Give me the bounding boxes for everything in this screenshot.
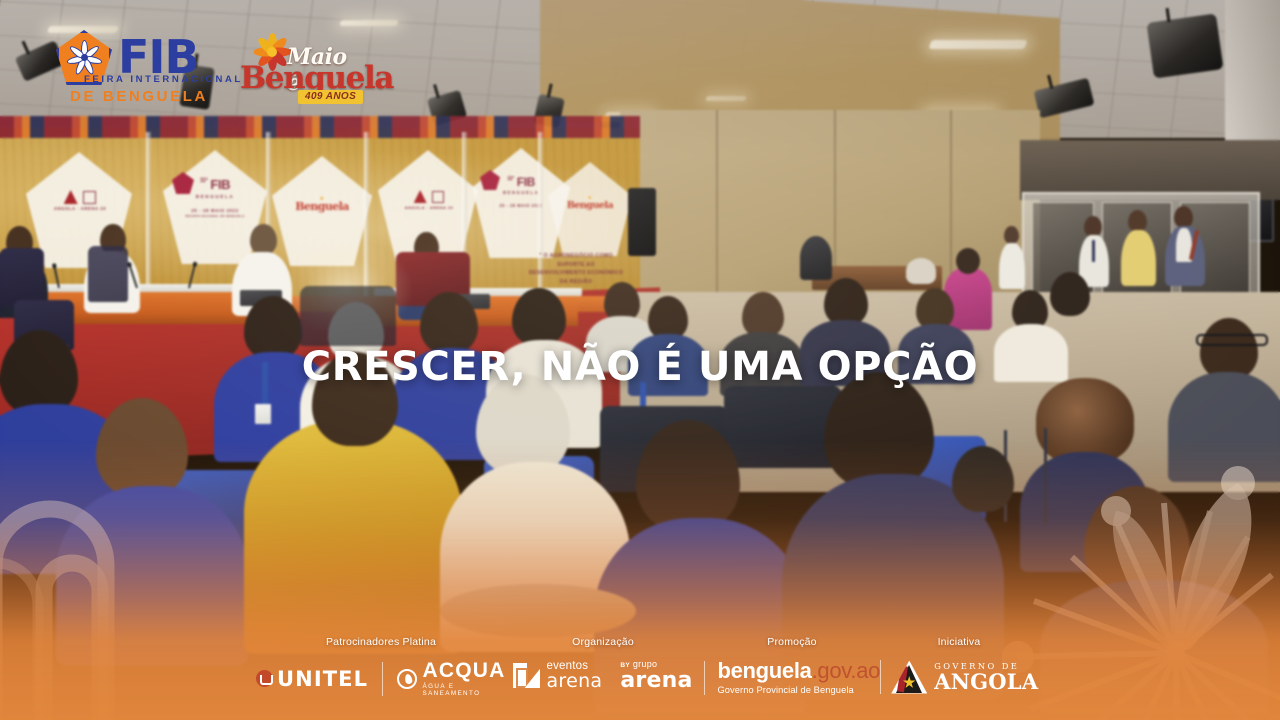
fib-logo: FIB FEIRA INTERNACIONAL DE BENGUELA: [56, 30, 222, 105]
benguela-text: benguela: [717, 658, 811, 683]
angola-wordmark: ANGOLA: [934, 671, 1038, 693]
fib-subtitle-top: FEIRA INTERNACIONAL: [84, 74, 243, 85]
unitel-logo: UNITEL: [256, 667, 368, 691]
acqua-drop-icon: [397, 669, 417, 689]
maio-e-benguela-logo: Maio é Benguela 409 ANOS: [240, 30, 366, 108]
acqua-logo: ACQUA ÁGUA E SANEAMENTO: [397, 660, 506, 697]
sponsor-group-label: Patrocinadores Platina: [256, 636, 506, 648]
angola-triangle-icon: [891, 661, 927, 694]
acqua-wordmark: ACQUA: [422, 660, 506, 681]
sponsor-group-platina: Patrocinadores Platina UNITEL ACQUA ÁGUA…: [256, 636, 506, 697]
fib-subtitle-bottom: DE BENGUELA: [56, 88, 222, 105]
grupo-arena-logo: BY grupo arena: [620, 660, 692, 692]
benguela-gov-logo: benguela.gov.ao Governo Provincial de Be…: [717, 660, 880, 695]
sponsor-group-iniciativa: Iniciativa GOVERNO DE ANGOLA: [866, 636, 1052, 694]
fib-wordmark: FIB: [118, 38, 199, 78]
sponsor-group-label: Promoção: [700, 636, 884, 648]
benguela-gov-tagline: Governo Provincial de Benguela: [717, 685, 880, 695]
sponsor-group-label: Organização: [500, 636, 706, 648]
governo-de-angola-logo: GOVERNO DE ANGOLA: [891, 661, 1038, 694]
arena-wordmark: arena: [546, 672, 602, 691]
sponsor-group-promocao: Promoção benguela.gov.ao Governo Provinc…: [700, 636, 884, 695]
divider: [382, 662, 383, 696]
sponsor-footer: Patrocinadores Platina UNITEL ACQUA ÁGUA…: [0, 636, 1280, 702]
eventos-arena-logo: eventos arena: [513, 661, 602, 692]
acqua-tagline: ÁGUA E SANEAMENTO: [422, 683, 506, 697]
sponsor-group-organizacao: Organização eventos arena BY grupo: [500, 636, 706, 692]
unitel-mark-icon: [256, 670, 273, 687]
slide-title: CRESCER, NÃO É UMA OPÇÃO: [0, 344, 1280, 390]
divider: [880, 660, 882, 694]
anos-badge: 409 ANOS: [298, 90, 363, 104]
unitel-wordmark: UNITEL: [277, 667, 368, 691]
top-logo-bar: FIB FEIRA INTERNACIONAL DE BENGUELA Maio…: [56, 30, 366, 108]
arena-wordmark-bold: arena: [620, 670, 692, 692]
sponsor-group-label: Iniciativa: [866, 636, 1052, 648]
divider: [704, 661, 706, 695]
arena-mark-icon: [513, 663, 540, 688]
slide-canvas: ANGOLA · ARENA 20 11ª FIB BENGUELA 25 - …: [0, 0, 1280, 720]
